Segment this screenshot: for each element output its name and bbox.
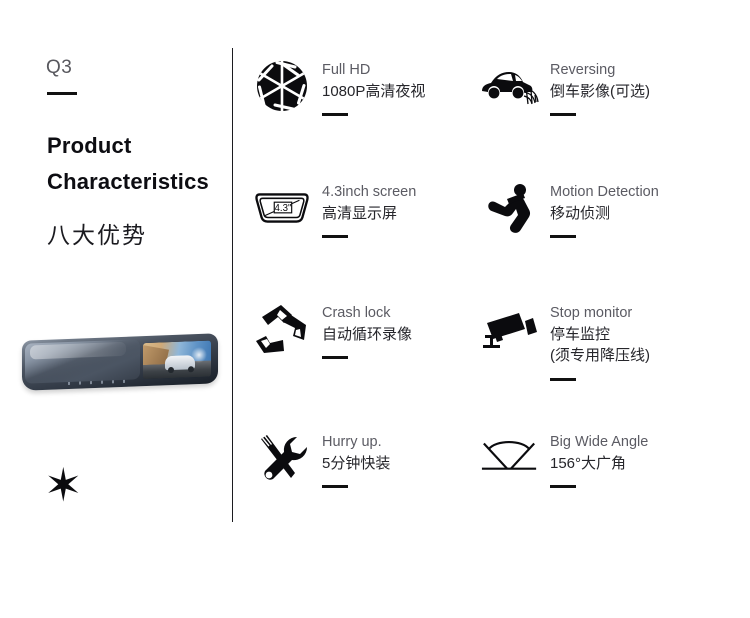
feature-item: Motion Detection 移动侦测: [480, 178, 659, 238]
feature-text: Stop monitor 停车监控 (须专用降压线): [550, 299, 650, 381]
feature-cn: 移动侦测: [550, 203, 659, 225]
feature-en: Full HD: [322, 60, 425, 81]
feature-cn: 倒车影像(可选): [550, 81, 650, 103]
feature-underline: [322, 235, 348, 238]
mirror-body: [22, 333, 218, 391]
left-panel: Q3 Product Characteristics 八大优势: [0, 0, 232, 618]
asterisk-icon: ✶: [44, 462, 83, 508]
feature-en: Hurry up.: [322, 432, 390, 453]
feature-underline: [550, 485, 576, 488]
aperture-icon: [252, 56, 312, 116]
feature-text: 4.3inch screen 高清显示屏: [322, 178, 416, 238]
page-title: Product Characteristics: [47, 128, 237, 199]
feature-grid: Full HD 1080P高清夜视: [252, 56, 750, 556]
feature-item: Full HD 1080P高清夜视: [252, 56, 425, 116]
feature-text: Motion Detection 移动侦测: [550, 178, 659, 238]
feature-text: Big Wide Angle 156°大广角: [550, 428, 648, 488]
feature-en: Stop monitor: [550, 303, 650, 324]
feature-cn: 1080P高清夜视: [322, 81, 425, 103]
feature-underline: [550, 378, 576, 381]
mirror-screen-icon: 4.3": [252, 178, 312, 238]
feature-item: Hurry up. 5分钟快装: [252, 428, 390, 488]
cctv-camera-icon: [480, 299, 540, 359]
feature-text: Full HD 1080P高清夜视: [322, 56, 425, 116]
feature-en: Motion Detection: [550, 182, 659, 203]
feature-en: Reversing: [550, 60, 650, 81]
reversing-car-icon: [480, 56, 540, 116]
feature-item: Stop monitor 停车监控 (须专用降压线): [480, 299, 650, 381]
vertical-divider: [232, 48, 233, 522]
running-person-icon: [480, 178, 540, 238]
feature-cn: 停车监控: [550, 324, 650, 346]
feature-underline: [322, 485, 348, 488]
feature-underline: [550, 235, 576, 238]
feature-en: Big Wide Angle: [550, 432, 648, 453]
product-image: [22, 333, 218, 395]
mirror-size-label: 4.3": [275, 203, 292, 214]
mirror-screen: [143, 341, 211, 380]
feature-cn: 自动循环录像: [322, 324, 412, 346]
wrench-screwdriver-icon: [252, 428, 312, 488]
feature-item: Reversing 倒车影像(可选): [480, 56, 650, 116]
product-characteristics-infographic: Q3 Product Characteristics 八大优势: [0, 0, 750, 618]
feature-underline: [322, 113, 348, 116]
wide-angle-icon: [480, 428, 540, 488]
feature-text: Hurry up. 5分钟快装: [322, 428, 390, 488]
feature-cn: 5分钟快装: [322, 453, 390, 475]
page-subtitle: 八大优势: [47, 224, 147, 247]
feature-cn: 高清显示屏: [322, 203, 416, 225]
feature-underline: [322, 356, 348, 359]
feature-cn: 156°大广角: [550, 453, 648, 475]
feature-text: Crash lock 自动循环录像: [322, 299, 412, 359]
feature-text: Reversing 倒车影像(可选): [550, 56, 650, 116]
section-kicker: Q3: [46, 58, 72, 77]
feature-cn-secondary: (须专用降压线): [550, 345, 650, 367]
feature-item: Big Wide Angle 156°大广角: [480, 428, 648, 488]
feature-underline: [550, 113, 576, 116]
recycle-loop-icon: [252, 299, 312, 359]
feature-en: 4.3inch screen: [322, 182, 416, 203]
feature-item: Crash lock 自动循环录像: [252, 299, 412, 359]
feature-en: Crash lock: [322, 303, 412, 324]
feature-item: 4.3" 4.3inch screen 高清显示屏: [252, 178, 416, 238]
kicker-underline: [47, 92, 77, 95]
